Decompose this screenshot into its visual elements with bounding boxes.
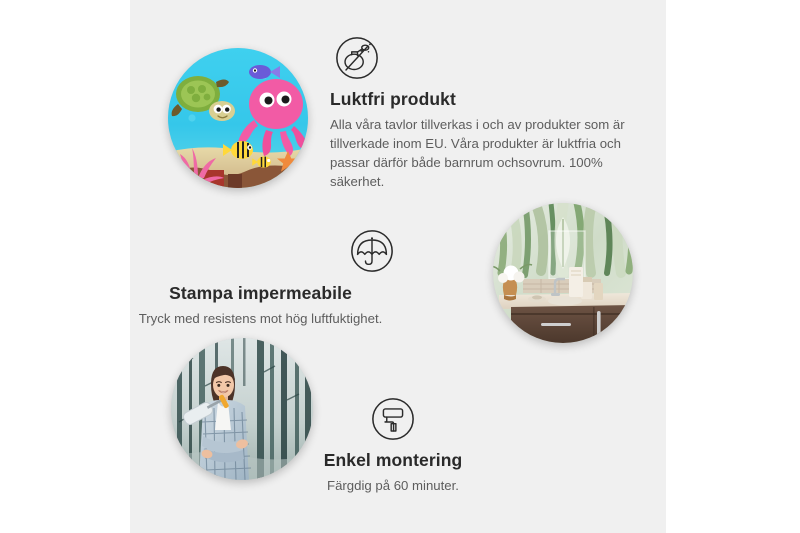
bathroom-tropical-wallpaper-photo	[493, 203, 633, 343]
bathroom-scene-illustration	[493, 203, 633, 343]
feature-body: Tryck med resistens mot hög luftfuktighe…	[130, 309, 433, 328]
feature-waterproof-print: Stampa impermeabile Tryck med resistens …	[130, 228, 433, 328]
feature-title: Stampa impermeabile	[130, 283, 433, 304]
underwater-kids-mural-photo	[168, 48, 308, 188]
underwater-scene-illustration	[168, 48, 308, 188]
paint-roller-icon	[370, 396, 416, 442]
umbrella-icon	[349, 228, 395, 274]
feature-body: Alla våra tavlor tillverkas i och av pro…	[330, 115, 630, 192]
feature-easy-assembly: Enkel montering Färgdig på 60 minuter.	[268, 396, 518, 495]
promo-banner: Luktfri produkt Alla våra tavlor tillver…	[0, 0, 800, 533]
feature-title: Luktfri produkt	[330, 89, 630, 110]
perfume-bottle-crossed-out-icon	[334, 35, 380, 81]
feature-title: Enkel montering	[268, 450, 518, 471]
content-canvas: Luktfri produkt Alla våra tavlor tillver…	[130, 0, 666, 533]
feature-body: Färgdig på 60 minuter.	[268, 476, 518, 495]
feature-odour-free: Luktfri produkt Alla våra tavlor tillver…	[330, 35, 630, 192]
